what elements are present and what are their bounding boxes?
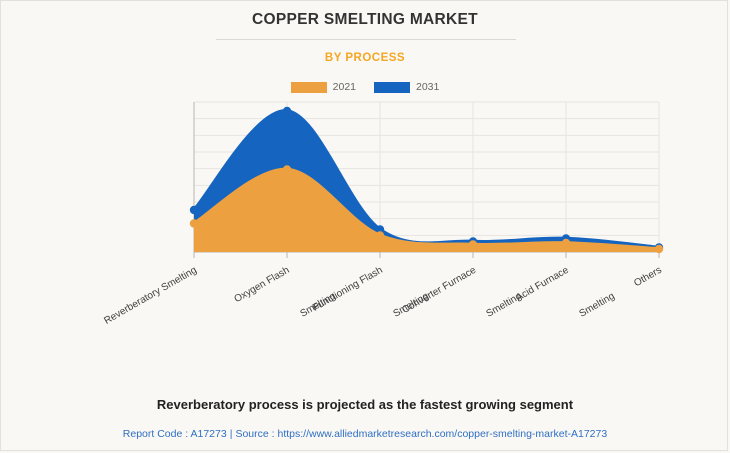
source-url[interactable]: Source : https://www.alliedmarketresearc… — [235, 428, 607, 440]
area-chart-svg — [1, 1, 729, 452]
report-code: Report Code : A17273 — [123, 428, 227, 440]
data-point[interactable] — [655, 245, 663, 253]
data-point[interactable] — [190, 206, 198, 214]
chart-caption: Reverberatory process is projected as th… — [1, 397, 729, 412]
source-footer: Report Code : A17273|Source : https://ww… — [1, 428, 729, 440]
data-point[interactable] — [469, 240, 477, 248]
data-point[interactable] — [283, 107, 291, 115]
data-point[interactable] — [190, 219, 198, 227]
data-point[interactable] — [376, 231, 384, 239]
plot-area: Reverberatory SmeltingOxygen FlashSmelti… — [1, 1, 729, 452]
chart-card: COPPER SMELTING MARKET BY PROCESS 2021 2… — [0, 0, 728, 451]
data-point[interactable] — [562, 239, 570, 247]
data-point[interactable] — [283, 165, 291, 173]
